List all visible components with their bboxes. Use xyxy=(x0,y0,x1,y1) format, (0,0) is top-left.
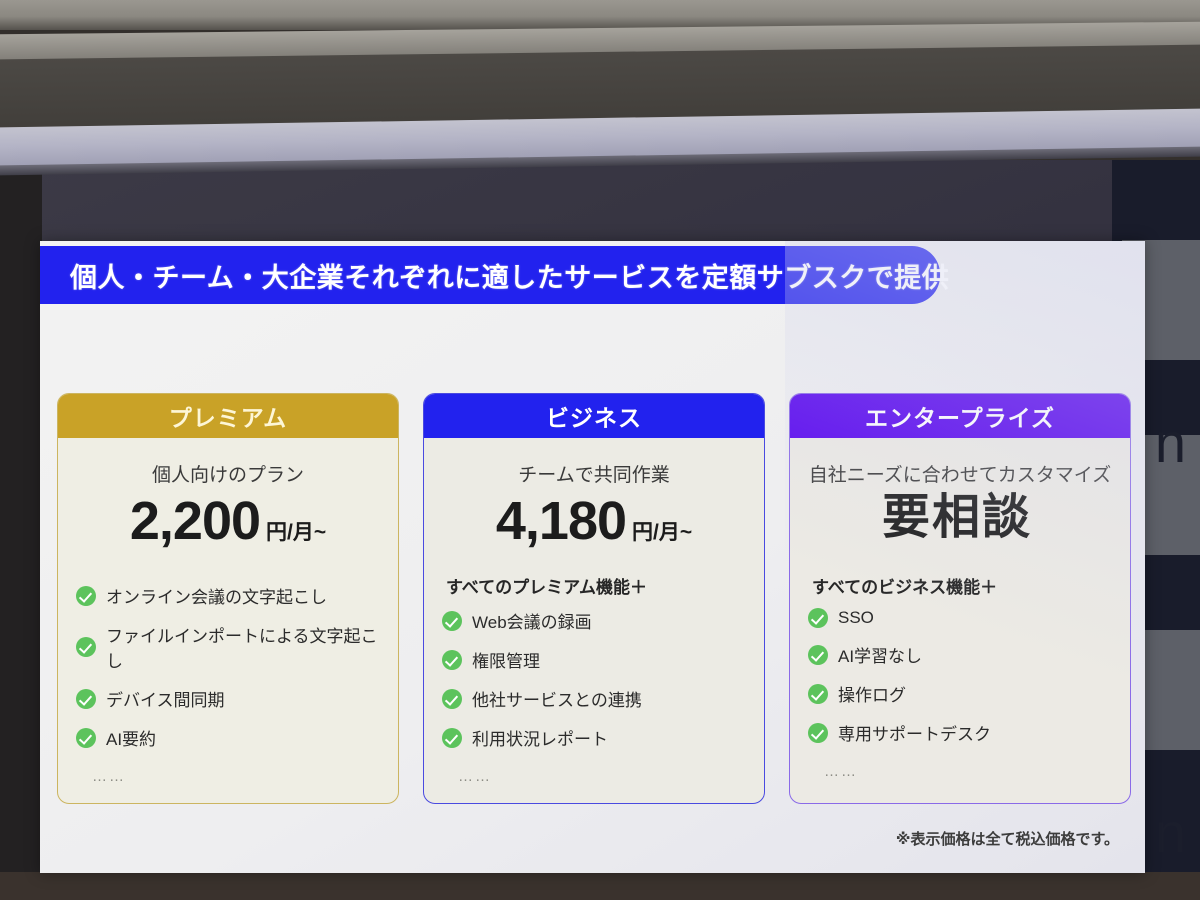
feature-item: オンライン会議の文字起こし xyxy=(76,583,380,608)
check-circle-icon xyxy=(808,684,828,704)
feature-label: オンライン会議の文字起こし xyxy=(106,583,327,608)
plan-tagline: チームで共同作業 xyxy=(442,460,746,487)
check-circle-icon xyxy=(808,608,828,628)
feature-item: AI要約 xyxy=(76,725,380,750)
slide-title: 個人・チーム・大企業それぞれに適したサービスを定額サブスクで提供 xyxy=(40,256,949,295)
feature-item: ファイルインポートによる文字起こし xyxy=(76,622,380,672)
plan-body-premium: 個人向けのプラン 2,200 円/月~ オンライン会議の文字起こし フ xyxy=(58,438,398,803)
plan-price-row: 2,200 円/月~ xyxy=(76,493,380,553)
feature-item: SSO xyxy=(808,608,1112,628)
check-circle-icon xyxy=(76,689,96,709)
feature-label: 権限管理 xyxy=(472,647,540,672)
plan-price-amount: 2,200 xyxy=(130,493,260,550)
meeting-room-background: n n 個人・チーム・大企業それぞれに適したサービスを定額サブスクで提供 プレミ… xyxy=(0,0,1200,900)
plan-price-row: 要相談 xyxy=(808,493,1112,553)
price-footnote: ※表示価格は全て税込価格です。 xyxy=(896,828,1119,849)
slide-title-bar: 個人・チーム・大企業それぞれに適したサービスを定額サブスクで提供 xyxy=(40,246,940,304)
plan-feature-list: SSO AI学習なし 操作ログ 専用サポートデスク xyxy=(808,608,1112,759)
wall-signage-letter: n xyxy=(1155,800,1186,865)
feature-label: ファイルインポートによる文字起こし xyxy=(106,622,380,672)
check-circle-icon xyxy=(442,650,462,670)
check-circle-icon xyxy=(76,637,96,657)
feature-label: 操作ログ xyxy=(838,681,906,706)
left-wall xyxy=(0,160,42,900)
feature-item: デバイス間同期 xyxy=(76,686,380,711)
plan-header-business: ビジネス xyxy=(424,394,764,438)
plan-price-amount: 4,180 xyxy=(496,493,626,550)
feature-label: デバイス間同期 xyxy=(106,686,225,711)
check-circle-icon xyxy=(808,723,828,743)
plan-feature-list: Web会議の録画 権限管理 他社サービスとの連携 利用状況レポート xyxy=(442,608,746,764)
feature-item: AI学習なし xyxy=(808,642,1112,667)
plan-price-unit: 円/月~ xyxy=(266,516,326,546)
feature-label: AI要約 xyxy=(106,725,156,750)
check-circle-icon xyxy=(76,728,96,748)
plan-body-enterprise: 自社ニーズに合わせてカスタマイズ 要相談 すべてのビジネス機能＋ SSO xyxy=(790,438,1130,803)
plan-price-amount: 要相談 xyxy=(882,493,1032,543)
check-circle-icon xyxy=(442,611,462,631)
feature-item: 操作ログ xyxy=(808,681,1112,706)
feature-item: 利用状況レポート xyxy=(442,725,746,750)
plan-tagline: 自社ニーズに合わせてカスタマイズ xyxy=(808,460,1112,487)
floor-strip xyxy=(0,872,1200,900)
plan-header-premium: プレミアム xyxy=(58,394,398,438)
plan-features-header: すべてのビジネス機能＋ xyxy=(812,573,1112,598)
check-circle-icon xyxy=(808,645,828,665)
feature-label: Web会議の録画 xyxy=(472,608,592,633)
pricing-plan-row: プレミアム 個人向けのプラン 2,200 円/月~ オンライン会議の文字起こし xyxy=(57,393,1132,804)
check-circle-icon xyxy=(442,689,462,709)
plan-card-premium[interactable]: プレミアム 個人向けのプラン 2,200 円/月~ オンライン会議の文字起こし xyxy=(57,393,399,804)
feature-item: 権限管理 xyxy=(442,647,746,672)
feature-label: 利用状況レポート xyxy=(472,725,608,750)
feature-item: 専用サポートデスク xyxy=(808,720,1112,745)
more-features-ellipsis: …… xyxy=(824,763,1112,780)
check-circle-icon xyxy=(442,728,462,748)
more-features-ellipsis: …… xyxy=(92,768,380,785)
feature-label: SSO xyxy=(838,608,874,628)
more-features-ellipsis: …… xyxy=(458,768,746,785)
presentation-slide: 個人・チーム・大企業それぞれに適したサービスを定額サブスクで提供 プレミアム 個… xyxy=(40,241,1145,873)
wall-signage-letter: n xyxy=(1155,410,1186,475)
feature-label: 専用サポートデスク xyxy=(838,720,991,745)
check-circle-icon xyxy=(76,586,96,606)
feature-item: 他社サービスとの連携 xyxy=(442,686,746,711)
feature-item: Web会議の録画 xyxy=(442,608,746,633)
plan-tagline: 個人向けのプラン xyxy=(76,460,380,487)
plan-card-enterprise[interactable]: エンタープライズ 自社ニーズに合わせてカスタマイズ 要相談 すべてのビジネス機能… xyxy=(789,393,1131,804)
feature-label: AI学習なし xyxy=(838,642,922,667)
plan-features-header: すべてのプレミアム機能＋ xyxy=(446,573,746,598)
plan-feature-list: オンライン会議の文字起こし ファイルインポートによる文字起こし デバイス間同期 xyxy=(76,583,380,764)
plan-header-enterprise: エンタープライズ xyxy=(790,394,1130,438)
plan-card-business[interactable]: ビジネス チームで共同作業 4,180 円/月~ すべてのプレミアム機能＋ We… xyxy=(423,393,765,804)
plan-price-unit: 円/月~ xyxy=(632,516,692,546)
feature-label: 他社サービスとの連携 xyxy=(472,686,642,711)
plan-body-business: チームで共同作業 4,180 円/月~ すべてのプレミアム機能＋ Web会議の録… xyxy=(424,438,764,803)
plan-price-row: 4,180 円/月~ xyxy=(442,493,746,553)
